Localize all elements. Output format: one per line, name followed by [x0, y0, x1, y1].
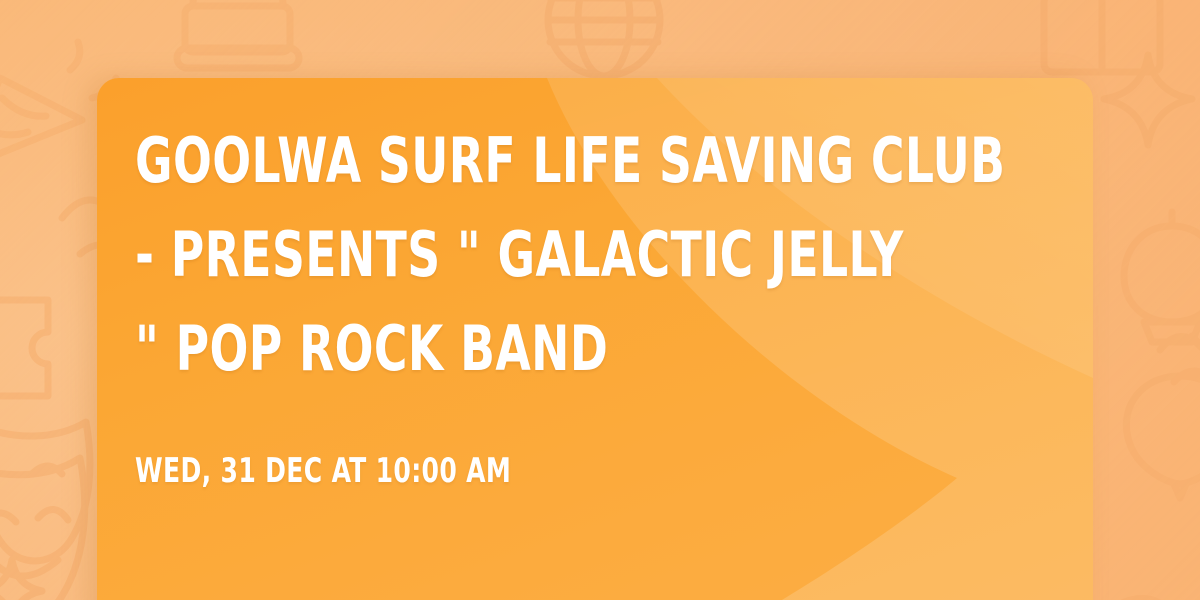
event-banner: GOOLWA SURF LIFE SAVING CLUB - PRESENTS … — [0, 0, 1200, 600]
page-title: GOOLWA SURF LIFE SAVING CLUB - PRESENTS … — [135, 114, 921, 397]
title-line-3: " POP ROCK BAND — [135, 302, 921, 396]
event-datetime: WED, 31 DEC AT 10:00 AM — [135, 451, 921, 491]
title-line-2: - PRESENTS " GALACTIC JELLY — [135, 208, 921, 302]
title-line-1: GOOLWA SURF LIFE SAVING CLUB — [135, 114, 921, 208]
event-card: GOOLWA SURF LIFE SAVING CLUB - PRESENTS … — [97, 78, 1093, 600]
